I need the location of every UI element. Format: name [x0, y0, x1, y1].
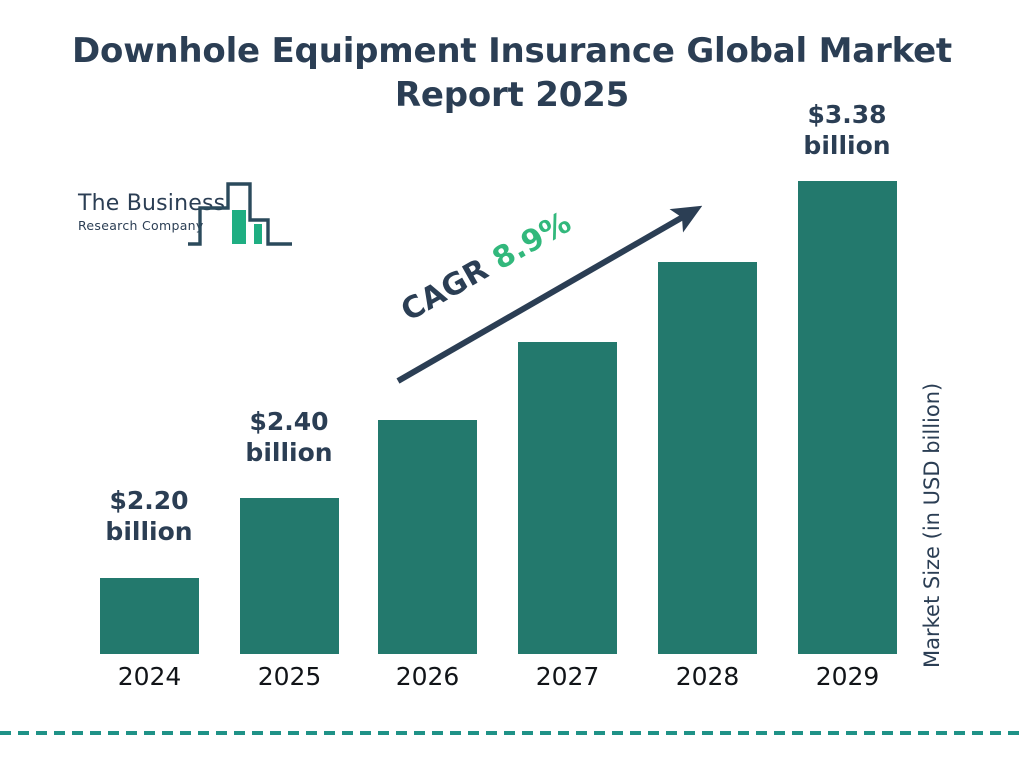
bar-2024	[100, 578, 199, 654]
x-tick-2029: 2029	[798, 662, 897, 691]
cagr-value: 8.9%	[487, 205, 578, 277]
bar-value-label-2024: $2.20 billion	[79, 486, 219, 547]
x-tick-2024: 2024	[100, 662, 199, 691]
x-tick-2025: 2025	[240, 662, 339, 691]
y-axis-title: Market Size (in USD billion)	[920, 298, 956, 668]
bar-2025	[240, 498, 339, 654]
bar-2027	[518, 342, 617, 654]
bar-2028	[658, 262, 757, 654]
x-tick-2027: 2027	[518, 662, 617, 691]
cagr-label: CAGR	[395, 252, 494, 329]
chart-canvas: Downhole Equipment Insurance Global Mark…	[0, 0, 1024, 768]
x-tick-2026: 2026	[378, 662, 477, 691]
footer-divider	[0, 731, 1024, 735]
x-tick-2028: 2028	[658, 662, 757, 691]
bar-2029	[798, 181, 897, 654]
bar-2026	[378, 420, 477, 654]
cagr-annotation: CAGR 8.9%	[395, 205, 577, 329]
plot-area: $2.20 billion $2.40 billion $3.38 billio…	[0, 0, 1024, 768]
bar-value-label-2025: $2.40 billion	[219, 407, 359, 468]
bar-value-label-2029: $3.38 billion	[777, 100, 917, 161]
